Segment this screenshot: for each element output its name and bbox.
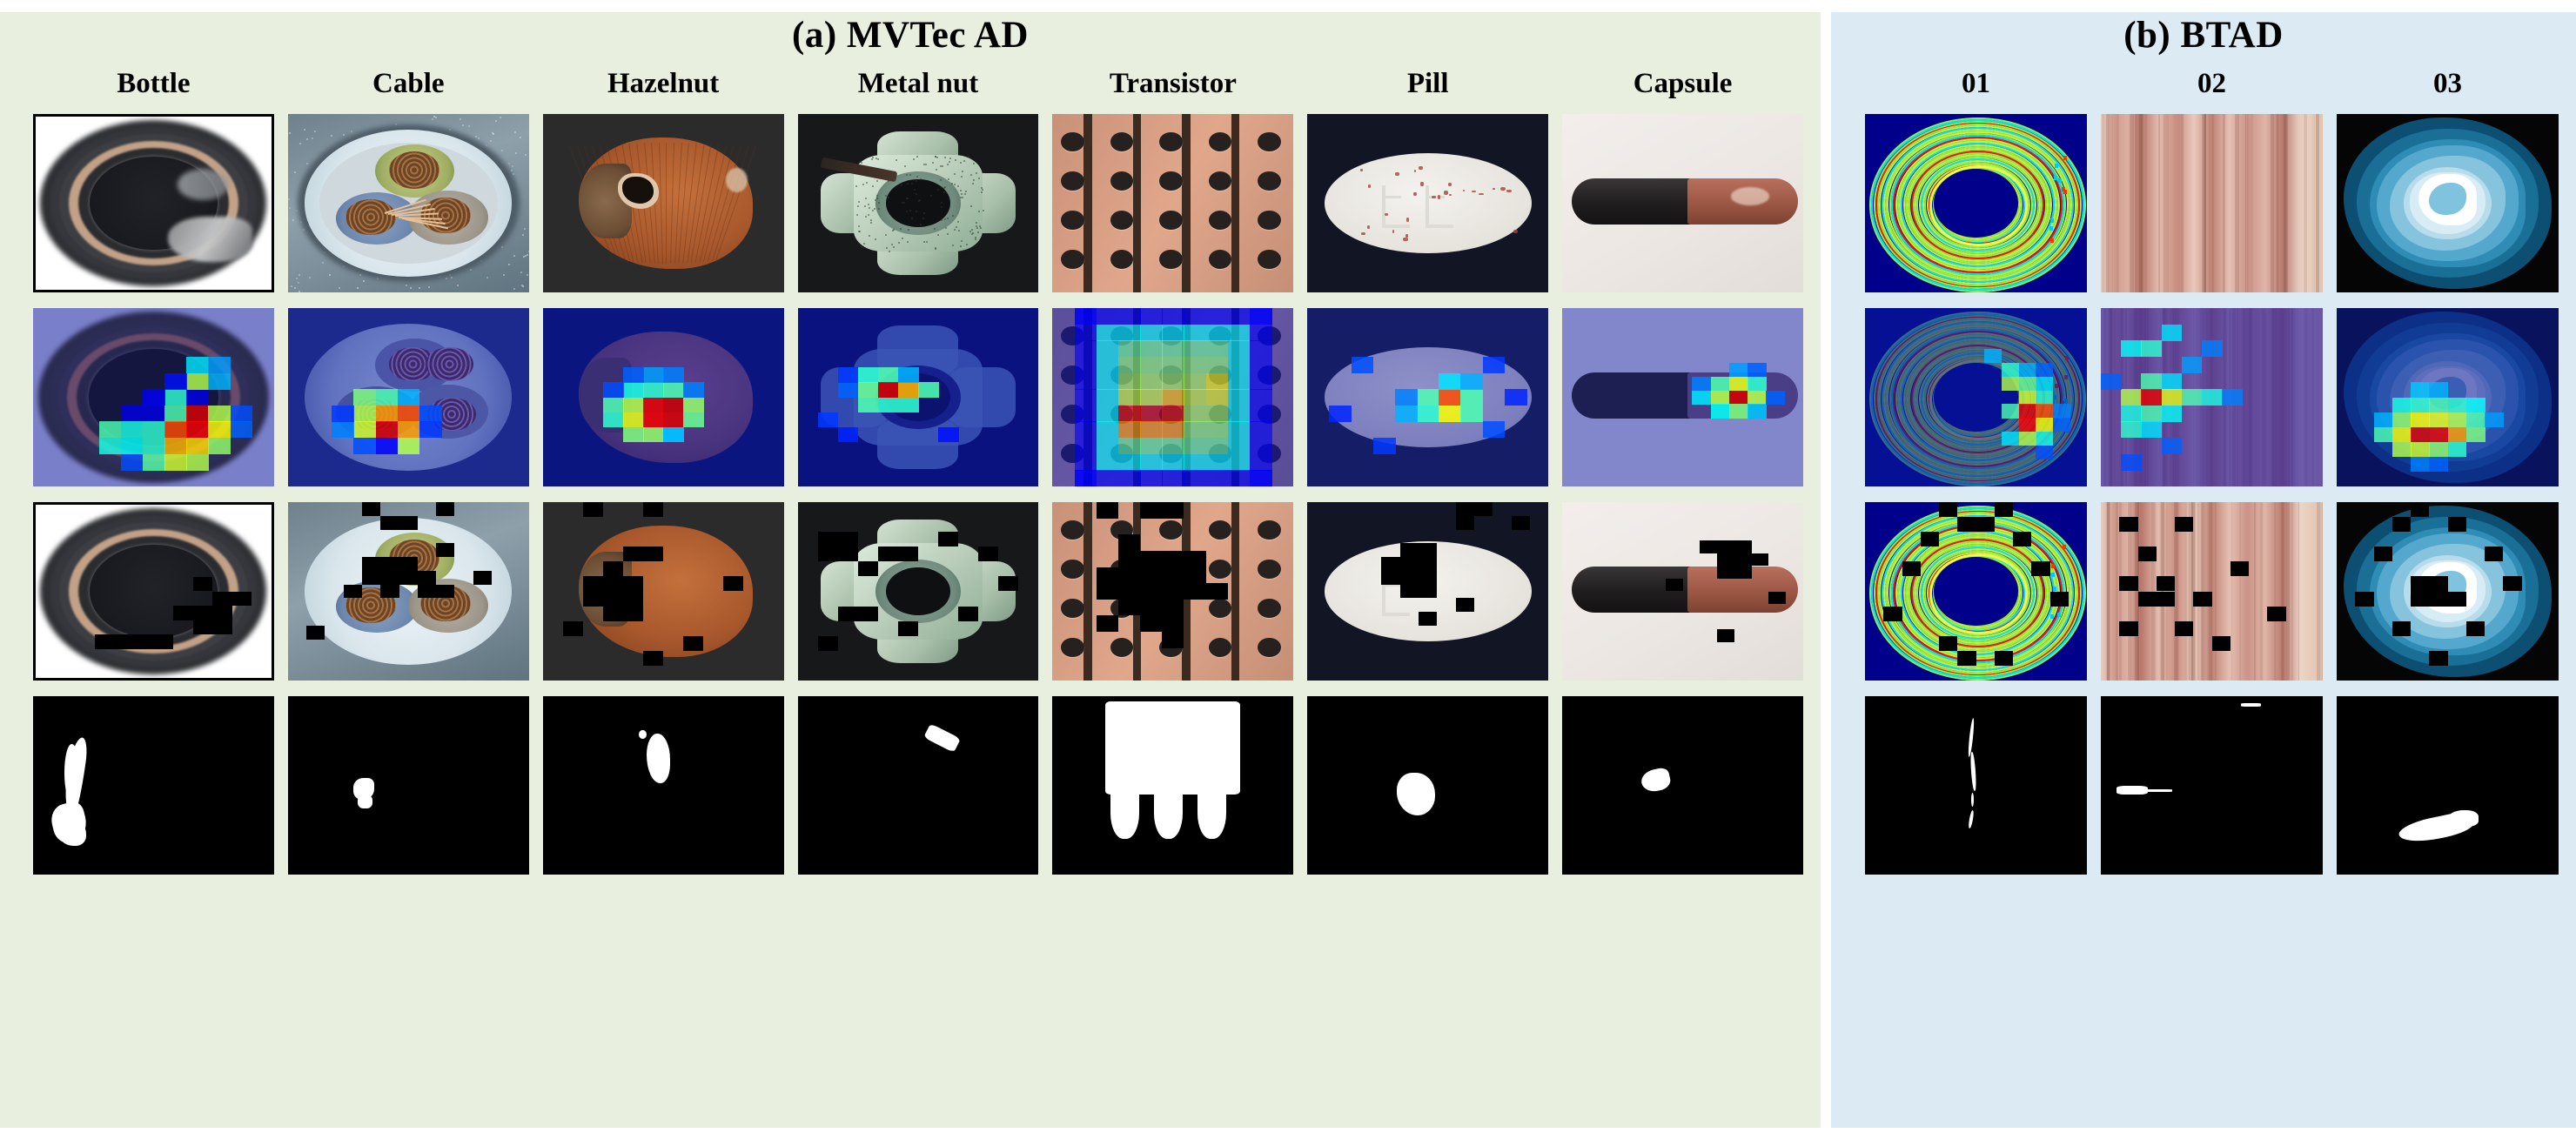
noise-dot — [513, 255, 515, 257]
metalnut-speck — [898, 242, 900, 244]
heat-patch — [1228, 325, 1251, 341]
noise-dot — [460, 118, 461, 120]
btad01-defect-fleck — [2063, 156, 2067, 160]
pill-speck-defect — [1414, 170, 1417, 171]
occlusion-patch — [2392, 621, 2411, 636]
heat-patch — [1184, 340, 1206, 357]
noise-dot — [520, 272, 522, 273]
cell-btad03-masked — [2337, 502, 2559, 681]
btad02-grain — [2142, 114, 2143, 292]
btad01-defect-fleck — [2049, 226, 2053, 231]
heat-patch — [1140, 325, 1163, 341]
pill-letter-f1-bar — [1382, 584, 1401, 587]
heat-patch — [143, 406, 165, 422]
heat-patch — [2222, 389, 2243, 406]
heat-patch — [121, 454, 144, 471]
heat-patch — [898, 398, 919, 412]
cell-btad01-gt — [1865, 696, 2087, 875]
transistor-track — [1083, 502, 1091, 681]
btad02-grain — [2304, 114, 2307, 292]
heat-patch — [1206, 470, 1229, 486]
metalnut-speck — [892, 230, 894, 231]
heat-patch — [419, 421, 442, 438]
metalnut-speck — [941, 206, 943, 208]
metalnut-speck — [955, 159, 956, 161]
transistor-pad — [1061, 250, 1083, 270]
noise-dot — [292, 219, 294, 221]
heat-patch — [1483, 421, 1506, 438]
heat-patch — [2162, 325, 2183, 341]
btad02-grain — [2286, 502, 2290, 681]
transistor-pad — [1061, 132, 1083, 152]
btad02-grain — [2110, 114, 2114, 292]
metalnut-speck — [940, 165, 942, 167]
occlusion-patch — [2374, 547, 2392, 561]
transistor-pad — [1061, 520, 1083, 540]
noise-dot — [525, 154, 527, 156]
capsule-photo — [1562, 114, 1803, 292]
occlusion-patch — [2448, 592, 2466, 607]
pill-speck-defect — [1419, 166, 1423, 170]
metalnut-speck — [940, 179, 942, 181]
cell-pill-input — [1307, 114, 1548, 292]
heat-patch — [164, 438, 187, 454]
heat-patch — [858, 382, 879, 397]
heat-patch — [878, 382, 899, 397]
heat-patch — [121, 406, 144, 422]
metalnut-speck — [885, 234, 887, 236]
heat-patch — [1228, 308, 1251, 325]
heat-patch — [99, 421, 122, 438]
heat-patch — [1075, 325, 1097, 341]
btad01-defect-fleck — [2053, 587, 2056, 591]
transistor-pad — [1159, 250, 1182, 270]
cell-hazelnut-heatmap — [543, 308, 784, 486]
occlusion-patch — [399, 571, 437, 585]
heat-patch — [1075, 438, 1097, 454]
occlusion-patch — [1456, 516, 1474, 530]
metalnut-speck — [958, 230, 960, 231]
metalnut-speck — [960, 190, 962, 191]
metalnut-speck — [972, 183, 974, 184]
occlusion-patch — [1140, 502, 1184, 519]
heat-patch — [1140, 308, 1163, 325]
heat-patch — [918, 382, 939, 397]
heat-patch — [2429, 412, 2448, 427]
occlusion-patch — [2212, 636, 2231, 651]
occlusion-patch — [1512, 516, 1530, 530]
metalnut-speck — [876, 195, 878, 197]
heat-patch — [1097, 438, 1119, 454]
heat-patch — [1228, 438, 1251, 454]
noise-dot — [428, 286, 430, 288]
transistor-pad — [1258, 211, 1280, 231]
gt-mask — [798, 696, 1039, 875]
metalnut-speck — [862, 184, 864, 185]
heat-patch — [1097, 325, 1119, 341]
heat-patch — [1250, 438, 1272, 454]
heat-patch — [1228, 454, 1251, 471]
cell-transistor-masked — [1052, 502, 1293, 681]
noise-dot — [475, 136, 477, 137]
heat-patch — [1206, 389, 1229, 406]
heat-patch — [683, 412, 704, 427]
metalnut-speck — [973, 179, 975, 181]
cable-strands-green — [389, 151, 439, 189]
heat-patch — [143, 421, 165, 438]
heat-patch — [2121, 421, 2142, 438]
heat-patch — [858, 367, 879, 382]
cable-heat-img — [288, 308, 529, 486]
metalnut-speck — [976, 222, 977, 224]
metalnut-speck — [973, 163, 975, 164]
heat-patch — [164, 373, 187, 390]
heat-patch — [353, 406, 376, 422]
heat-patch — [2121, 389, 2142, 406]
occlusion-patch — [603, 561, 623, 576]
occlusion-patch — [818, 636, 838, 651]
heat-patch — [208, 406, 231, 422]
metalnut-speck — [922, 218, 924, 219]
transistor-pad — [1258, 560, 1280, 580]
occlusion-patch — [978, 547, 998, 561]
noise-dot — [446, 278, 447, 279]
occlusion-patch — [603, 607, 643, 621]
gt-mask — [1865, 696, 2087, 875]
noise-dot — [343, 134, 345, 136]
metalnut-speck — [981, 187, 983, 189]
btad02-grain — [2271, 114, 2274, 292]
transistor-recon — [1052, 502, 1293, 681]
heat-patch — [2429, 382, 2448, 397]
metalnut-speck — [947, 218, 949, 219]
cell-btad03-input — [2337, 114, 2559, 292]
btad02-grain — [2322, 502, 2323, 681]
btad02-heat-img — [2101, 308, 2323, 486]
metalnut-speck — [944, 218, 946, 220]
metalnut-speck — [972, 232, 974, 234]
occlusion-patch — [232, 592, 252, 607]
occlusion-patch — [2138, 592, 2176, 607]
gt-blob — [639, 730, 646, 739]
gt-blob — [1971, 793, 1974, 807]
transistor-pad — [1110, 250, 1133, 270]
heat-patch — [2466, 412, 2485, 427]
hazelnut-photo — [543, 114, 784, 292]
metalnut-speck — [871, 158, 873, 160]
occlusion-patch — [643, 502, 663, 517]
pill-speck-defect — [1449, 194, 1452, 197]
hazelnut-stripe — [666, 143, 667, 264]
heat-patch — [1748, 377, 1767, 391]
cell-bottle-masked — [33, 502, 274, 681]
heat-patch — [1729, 377, 1748, 391]
heat-patch — [1118, 421, 1141, 438]
heat-patch — [231, 406, 253, 422]
pill-speck-defect — [1360, 169, 1363, 171]
metalnut-speck — [949, 161, 950, 163]
heat-patch — [1140, 340, 1163, 357]
metalnut-speck — [872, 185, 874, 187]
metalnut-speck — [969, 231, 971, 232]
heat-patch — [1162, 340, 1184, 357]
heat-patch — [1505, 389, 1527, 406]
occlusion-patch — [2031, 561, 2049, 576]
metalnut-speck — [970, 174, 972, 176]
heat-patch — [1075, 470, 1097, 486]
heat-patch — [1118, 406, 1141, 422]
heat-patch — [1118, 357, 1141, 373]
heat-patch — [2101, 373, 2122, 390]
metalnut-speck — [936, 169, 937, 171]
heat-patch — [2411, 382, 2430, 397]
cell-metalnut-masked — [798, 502, 1039, 681]
heat-patch — [1140, 421, 1163, 438]
heat-patch — [1352, 357, 1374, 373]
cell-btad03-gt — [2337, 696, 2559, 875]
noise-dot — [521, 285, 523, 286]
metalnut-speck — [902, 202, 903, 204]
heat-patch — [1206, 406, 1229, 422]
pill-recon — [1307, 502, 1548, 681]
metalnut-speck — [914, 189, 916, 191]
metalnut-body — [817, 128, 1020, 278]
btad01-defect-fleck — [2050, 614, 2054, 619]
btad02-grain — [2164, 114, 2169, 292]
metalnut-speck — [978, 178, 980, 179]
heat-patch — [1460, 373, 1483, 390]
occlusion-patch — [1184, 583, 1205, 600]
occlusion-patch — [1939, 502, 1957, 517]
bottle-recon — [36, 505, 272, 678]
heat-patch — [1395, 389, 1418, 406]
noise-dot — [322, 262, 324, 264]
gt-blob — [2448, 810, 2479, 826]
heat-patch — [353, 438, 376, 454]
metalnut-speck — [980, 227, 982, 229]
heat-patch — [1184, 308, 1206, 325]
capsule-recon — [1562, 502, 1803, 681]
noise-dot — [304, 129, 305, 131]
heat-patch — [1075, 406, 1097, 422]
occlusion-patch — [2392, 517, 2411, 532]
noise-dot — [309, 277, 311, 278]
heat-patch — [1250, 373, 1272, 390]
btad01-disc — [1869, 117, 2083, 289]
heat-patch — [376, 389, 399, 406]
metalnut-speck — [875, 238, 876, 240]
btad02-grain — [2254, 502, 2256, 681]
noise-dot — [314, 131, 316, 132]
metalnut-speck — [907, 241, 909, 243]
occlusion-patch — [418, 585, 455, 599]
noise-dot — [527, 254, 528, 256]
btad02-grain — [2274, 502, 2276, 681]
cell-metalnut-gt — [798, 696, 1039, 875]
occlusion-patch — [2138, 547, 2157, 561]
heat-patch — [398, 438, 420, 454]
heat-patch — [2162, 406, 2183, 422]
heat-patch — [2448, 427, 2467, 442]
btad02-grain — [2223, 114, 2225, 292]
occlusion-patch — [1957, 517, 1976, 532]
heat-patch — [898, 367, 919, 382]
noise-dot — [289, 207, 291, 209]
column-label-cable: Cable — [288, 68, 529, 100]
occlusion-patch — [1734, 566, 1752, 579]
occlusion-patch — [2411, 502, 2429, 517]
metalnut-speck — [868, 204, 869, 205]
btad02-grain — [2102, 114, 2104, 292]
occlusion-patch — [623, 547, 663, 561]
noise-dot — [299, 143, 301, 144]
occlusion-patch — [2448, 517, 2466, 532]
gt-blob — [2241, 703, 2261, 707]
metalnut-speck — [876, 198, 878, 199]
occlusion-patch — [2466, 621, 2485, 636]
noise-dot — [288, 198, 290, 200]
heat-patch — [332, 421, 354, 438]
btad02-grain — [2284, 502, 2286, 681]
pill-speck-defect — [1444, 191, 1448, 195]
transistor-pad — [1209, 250, 1231, 270]
heat-patch — [1729, 404, 1748, 418]
heat-patch — [164, 406, 187, 422]
heat-patch — [878, 398, 899, 412]
occlusion-patch — [380, 516, 399, 530]
heat-patch — [2202, 340, 2223, 357]
heat-patch — [1118, 470, 1141, 486]
occlusion-patch — [2175, 517, 2193, 532]
btad01-heat-img — [1865, 308, 2087, 486]
metalnut-speck — [952, 215, 954, 217]
noise-dot — [462, 124, 464, 126]
btad02-recon — [2101, 502, 2323, 681]
transistor-pad — [1209, 560, 1231, 580]
heat-patch — [2036, 391, 2053, 405]
metalnut-speck — [870, 222, 872, 224]
heat-patch — [186, 454, 209, 471]
metalnut-speck — [908, 229, 909, 231]
heat-patch — [2002, 377, 2019, 391]
noise-dot — [331, 135, 332, 137]
pill-speck-defect — [1367, 225, 1370, 229]
heat-patch — [376, 421, 399, 438]
heat-patch — [603, 398, 624, 412]
heat-patch — [208, 438, 231, 454]
metalnut-speck — [960, 197, 962, 198]
btad01-defect-fleck — [2054, 176, 2057, 180]
btad01-recon — [1865, 502, 2087, 681]
occlusion-patch — [938, 532, 958, 547]
occlusion-patch — [2050, 592, 2069, 607]
metalnut-speck — [945, 227, 947, 229]
heat-patch — [121, 421, 144, 438]
heat-patch — [1250, 357, 1272, 373]
metalnut-speck — [911, 183, 913, 184]
metalnut-speck — [983, 171, 984, 173]
gt-mask — [543, 696, 784, 875]
transistor-pad — [1159, 211, 1182, 231]
metalnut-speck — [966, 244, 968, 245]
metalnut-bore — [886, 567, 950, 615]
metalnut-speck — [954, 184, 956, 185]
heat-patch — [376, 438, 399, 454]
noise-dot — [514, 131, 516, 133]
heat-patch — [1206, 438, 1229, 454]
heat-patch — [623, 398, 644, 412]
hazelnut-hole-defect — [622, 177, 654, 204]
metalnut-speck — [903, 202, 905, 204]
noise-dot — [433, 116, 435, 117]
bottle-photo — [36, 117, 272, 290]
noise-dot — [470, 269, 472, 271]
metalnut-speck — [911, 218, 913, 219]
heat-patch — [1439, 406, 1461, 422]
gt-blob — [1967, 718, 1975, 757]
metalnut-speck — [858, 225, 860, 227]
heat-patch — [2141, 373, 2162, 390]
heat-patch — [2019, 404, 2036, 418]
occlusion-patch — [1883, 607, 1902, 621]
heat-patch — [1162, 454, 1184, 471]
metalnut-speck — [855, 185, 857, 187]
occlusion-patch — [1902, 561, 1921, 576]
heat-patch — [186, 389, 209, 406]
heat-patch — [2448, 398, 2467, 412]
noise-dot — [528, 251, 529, 252]
heat-patch — [186, 438, 209, 454]
transistor-pad — [1110, 211, 1133, 231]
transistor-pad — [1258, 599, 1280, 619]
occlusion-patch — [583, 502, 603, 517]
cell-cable-heatmap — [288, 308, 529, 486]
metalnut-speck — [878, 202, 880, 204]
heat-patch — [1140, 470, 1163, 486]
metalnut-speck — [920, 224, 922, 225]
heat-patch — [1075, 389, 1097, 406]
metalnut-speck — [913, 158, 915, 160]
btad03-recon — [2337, 502, 2559, 681]
heat-patch — [643, 427, 664, 442]
cell-transistor-input — [1052, 114, 1293, 292]
transistor-pad — [1110, 132, 1133, 152]
transistor-track-1 — [1133, 114, 1141, 292]
heat-patch — [2392, 398, 2412, 412]
cell-capsule-gt — [1562, 696, 1803, 875]
column-label-hazelnut: Hazelnut — [543, 68, 784, 100]
gt-mask — [33, 696, 274, 875]
heat-patch — [1228, 421, 1251, 438]
metalnut-speck — [963, 160, 965, 162]
noise-dot — [490, 140, 492, 142]
heat-patch — [1748, 404, 1767, 418]
heat-patch — [2411, 412, 2430, 427]
metalnut-speck — [960, 245, 962, 247]
cell-metalnut-input — [798, 114, 1039, 292]
heat-patch — [1206, 421, 1229, 438]
pill-speck-defect — [1500, 187, 1506, 191]
occlusion-patch — [1140, 615, 1184, 632]
gt-blob — [1968, 810, 1974, 828]
cell-pill-gt — [1307, 696, 1548, 875]
heat-patch — [1075, 340, 1097, 357]
cell-bottle-input — [33, 114, 274, 292]
cell-btad02-gt — [2101, 696, 2323, 875]
heat-patch — [398, 406, 420, 422]
heat-patch — [2141, 340, 2162, 357]
metalnut-speck — [861, 246, 862, 248]
